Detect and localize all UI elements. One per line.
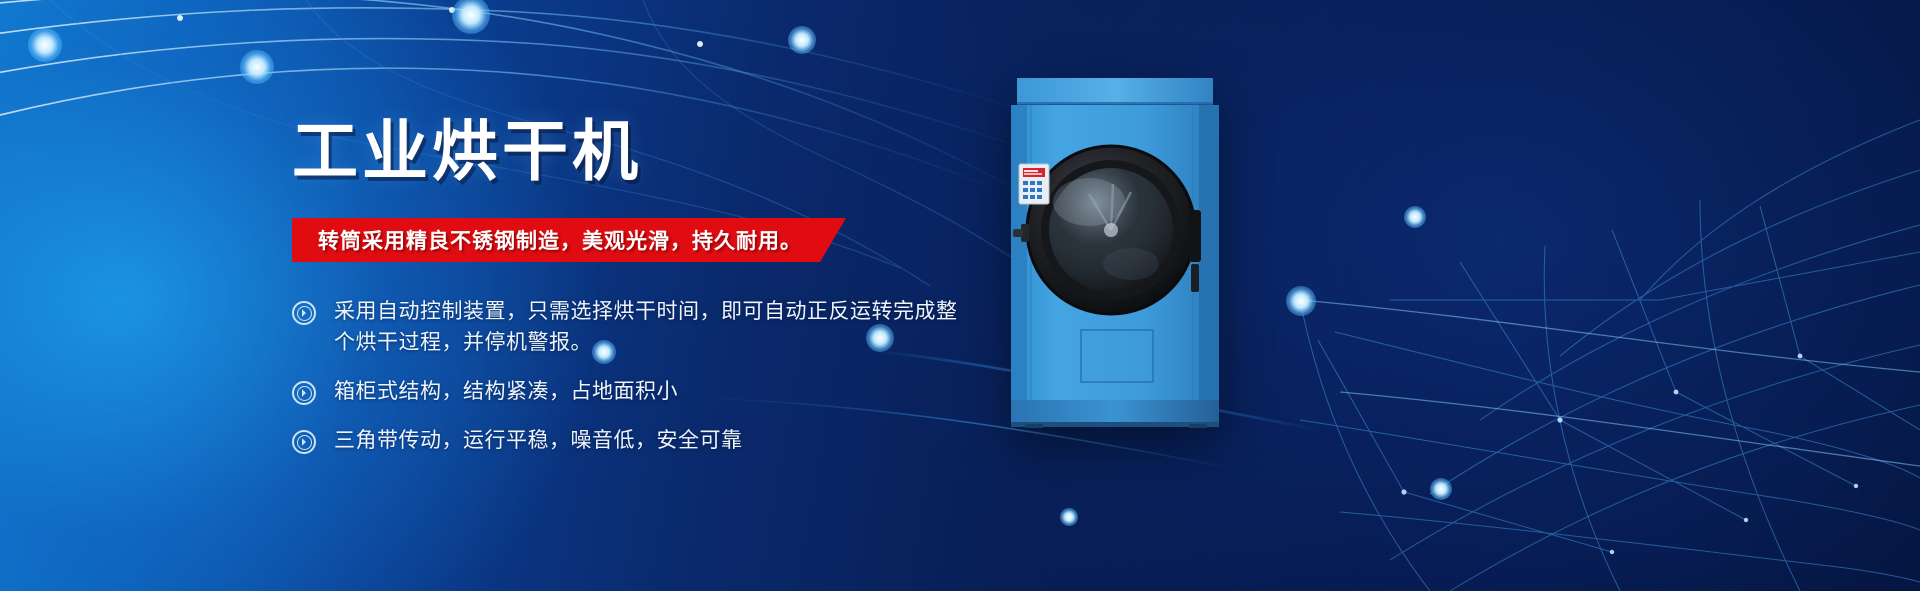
glow-dot [1430, 478, 1452, 500]
glow-dot [1286, 286, 1316, 316]
ribbon-text: 转筒采用精良不锈钢制造，美观光滑，持久耐用。 [318, 225, 802, 255]
product-image-industrial-dryer [1003, 78, 1229, 428]
glow-dot [240, 50, 274, 84]
circle-chevron-right-icon [292, 301, 316, 325]
ribbon-banner: 转筒采用精良不锈钢制造，美观光滑，持久耐用。 [292, 218, 992, 262]
list-item: 箱柜式结构，结构紧凑，占地面积小 [292, 376, 992, 407]
glow-dot [452, 0, 490, 34]
banner-content: 工业烘干机 转筒采用精良不锈钢制造，美观光滑，持久耐用。 采用自动控制装置，只需… [292, 118, 992, 456]
glow-dot [28, 28, 62, 62]
feature-list: 采用自动控制装置，只需选择烘干时间，即可自动正反运转完成整个烘干过程，并停机警报… [292, 296, 992, 456]
page-title: 工业烘干机 [292, 118, 992, 184]
circle-chevron-right-icon [292, 381, 316, 405]
feature-text: 三角带传动，运行平稳，噪音低，安全可靠 [334, 425, 743, 456]
glow-dot [1404, 206, 1426, 228]
circle-chevron-right-icon [292, 430, 316, 454]
list-item: 三角带传动，运行平稳，噪音低，安全可靠 [292, 425, 992, 456]
feature-text: 箱柜式结构，结构紧凑，占地面积小 [334, 376, 678, 407]
feature-text: 采用自动控制装置，只需选择烘干时间，即可自动正反运转完成整个烘干过程，并停机警报… [334, 296, 974, 358]
glow-dot [1060, 508, 1078, 526]
hero-banner: 工业烘干机 转筒采用精良不锈钢制造，美观光滑，持久耐用。 采用自动控制装置，只需… [0, 0, 1920, 591]
glow-dot [788, 26, 816, 54]
list-item: 采用自动控制装置，只需选择烘干时间，即可自动正反运转完成整个烘干过程，并停机警报… [292, 296, 992, 358]
